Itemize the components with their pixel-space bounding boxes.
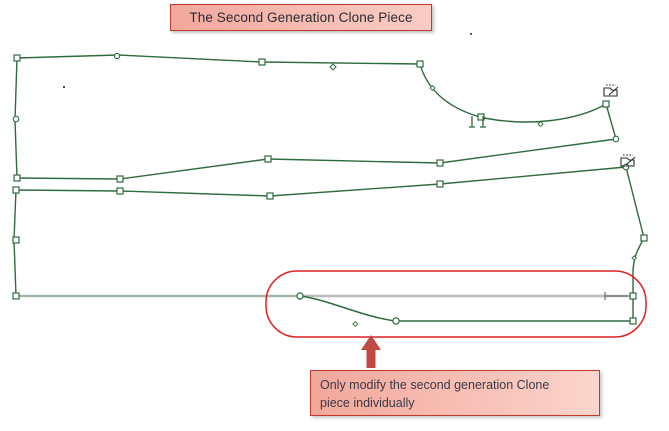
vertex-handle[interactable]: [437, 181, 443, 187]
modified-hem-curve[interactable]: [300, 296, 633, 321]
callout-arrow-up-icon: [361, 335, 381, 368]
upper-panel-bottom-edge[interactable]: [17, 139, 616, 179]
vertex-handle[interactable]: [117, 176, 123, 182]
vertex-handle[interactable]: [297, 293, 303, 299]
vertex-handle[interactable]: [613, 136, 619, 142]
vertex-handle[interactable]: [14, 175, 20, 181]
vertex-handle[interactable]: [13, 187, 19, 193]
vertex-handle[interactable]: [117, 188, 123, 194]
upper-bodice-panel[interactable]: [13, 53, 619, 182]
lower-panel-right-lower-edge[interactable]: [633, 238, 644, 322]
title-banner[interactable]: The Second Generation Clone Piece: [170, 4, 432, 31]
caption-line-1: Only modify the second generation Clone: [320, 376, 590, 394]
vertex-handle[interactable]: [265, 156, 271, 162]
stray-speck: [470, 33, 472, 35]
vertex-handle[interactable]: [13, 237, 19, 243]
pattern-canvas[interactable]: The Second Generation Clone Piece Only m…: [0, 0, 669, 431]
vertex-handle[interactable]: [14, 55, 20, 61]
stray-speck: [63, 86, 65, 88]
highlight-rounded-rectangle[interactable]: [266, 271, 646, 337]
lower-bodice-panel[interactable]: [13, 164, 647, 326]
vertex-handle[interactable]: [267, 193, 273, 199]
vertex-handle[interactable]: [641, 235, 647, 241]
vertex-diamond-handle[interactable]: [330, 64, 336, 70]
upper-panel-right-edge[interactable]: [606, 104, 616, 139]
vertex-handle[interactable]: [417, 61, 423, 67]
vertex-handle[interactable]: [603, 101, 609, 107]
vertex-handle[interactable]: [13, 116, 19, 122]
vertex-handle[interactable]: [259, 59, 265, 65]
upper-panel-armhole-curve[interactable]: [420, 64, 606, 122]
vertex-handle[interactable]: [630, 293, 636, 299]
vertex-handle[interactable]: [393, 318, 399, 324]
caption-box[interactable]: Only modify the second generation Clone …: [310, 370, 600, 416]
pen-flag-icon: [604, 85, 618, 96]
title-banner-label: The Second Generation Clone Piece: [189, 10, 412, 25]
vertex-handle[interactable]: [630, 318, 636, 324]
upper-panel-top-edge[interactable]: [17, 55, 420, 64]
lower-panel-top-edge[interactable]: [16, 167, 626, 196]
vertex-diamond-handle[interactable]: [353, 322, 358, 327]
caption-line-2: piece individually: [320, 394, 590, 412]
hem-notch-tick: [605, 292, 628, 300]
vertex-handle[interactable]: [623, 164, 629, 170]
vertex-handle[interactable]: [437, 160, 443, 166]
vertex-handle[interactable]: [114, 53, 119, 58]
lower-panel-right-upper-edge[interactable]: [626, 167, 644, 238]
vertex-handle[interactable]: [13, 293, 19, 299]
pattern-drawing[interactable]: [0, 0, 669, 431]
